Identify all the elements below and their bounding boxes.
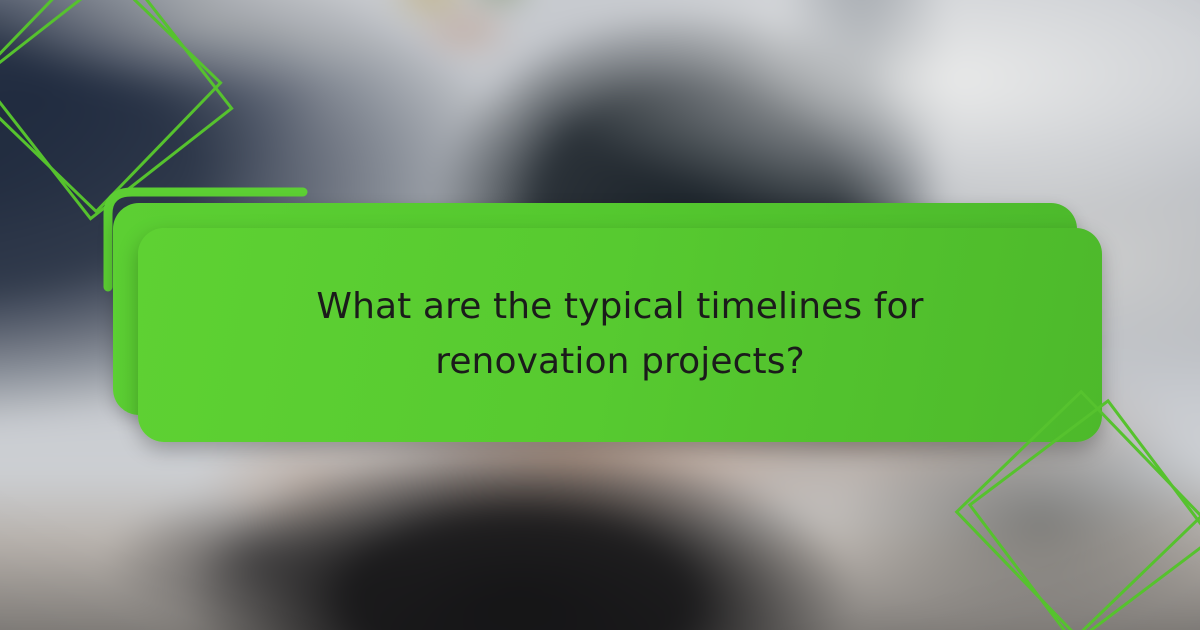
question-text: What are the typical timelines for renov… (192, 280, 1048, 389)
deco-square-outline (968, 399, 1200, 630)
rotated-squares-top-left-icon (0, 0, 205, 200)
rotated-squares-bottom-right-icon (977, 416, 1197, 630)
question-card-canvas: What are the typical timelines for renov… (0, 0, 1200, 630)
question-card[interactable]: What are the typical timelines for renov… (138, 228, 1102, 442)
